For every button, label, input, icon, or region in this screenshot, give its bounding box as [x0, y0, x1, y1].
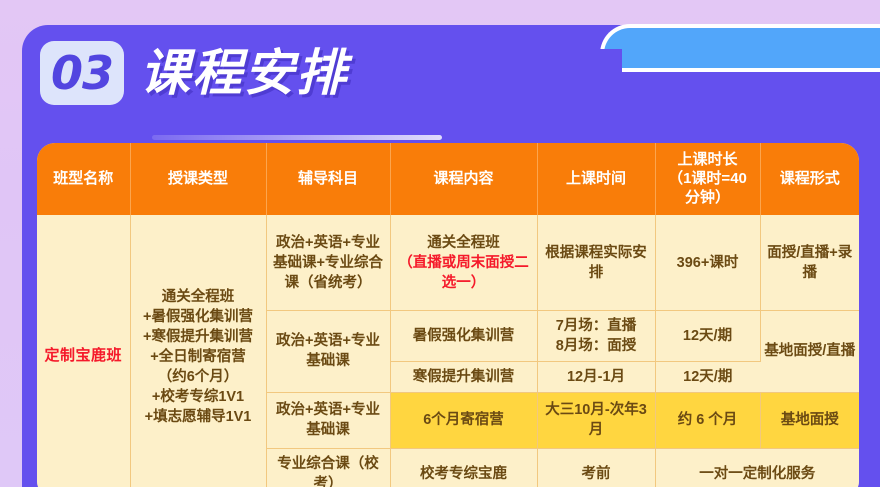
cell-duration: 12天/期 — [655, 361, 760, 392]
time-line-2: 8月场：面授 — [556, 338, 637, 354]
cell-format: 基地面授 — [760, 392, 859, 448]
teaching-line-6: +校考专综1V1 — [152, 389, 244, 405]
section-header: 03 课程安排 — [40, 36, 348, 110]
table-header-row: 班型名称 授课类型 辅导科目 课程内容 上课时间 上课时长 （1课时=40 分钟… — [37, 143, 859, 215]
content-note: （直播或周末面授二选一） — [394, 253, 534, 293]
duration-line-1: 上课时长 — [677, 151, 737, 168]
cell-time: 7月场：直播 8月场：面授 — [537, 310, 655, 361]
cell-subject: 专业综合课（校考） — [266, 448, 390, 487]
teaching-line-1: 通关全程班 — [162, 289, 235, 305]
cell-time: 12月-1月 — [537, 361, 655, 392]
teaching-line-5: （约6个月） — [158, 369, 239, 385]
cell-subject: 政治+英语+专业基础课+专业综合课（省统考） — [266, 215, 390, 310]
col-header-class-name: 班型名称 — [37, 143, 130, 215]
cell-teaching-type: 通关全程班 +暑假强化集训营 +寒假提升集训营 +全日制寄宿营 （约6个月） +… — [130, 215, 266, 487]
col-header-format: 课程形式 — [760, 143, 859, 215]
time-line-1: 7月场：直播 — [556, 318, 637, 334]
teaching-line-2: +暑假强化集训营 — [143, 309, 253, 325]
col-header-duration: 上课时长 （1课时=40 分钟） — [655, 143, 760, 215]
col-header-time: 上课时间 — [537, 143, 655, 215]
cell-duration: 396+课时 — [655, 215, 760, 310]
cell-duration-format-merged: 一对一定制化服务 — [655, 448, 859, 487]
section-number-badge: 03 — [40, 41, 124, 105]
duration-line-3: 分钟） — [685, 189, 730, 206]
cell-subject: 政治+英语+专业基础课 — [266, 310, 390, 392]
schedule-table: 班型名称 授课类型 辅导科目 课程内容 上课时间 上课时长 （1课时=40 分钟… — [37, 143, 859, 487]
page-title: 课程安排 — [140, 48, 348, 98]
cell-time: 大三10月-次年3月 — [537, 392, 655, 448]
content-main: 通关全程班 — [394, 233, 534, 253]
teaching-line-4: +全日制寄宿营 — [150, 349, 245, 365]
cell-duration: 12天/期 — [655, 310, 760, 361]
cell-format: 面授/直播+录播 — [760, 215, 859, 310]
teaching-line-3: +寒假提升集训营 — [143, 329, 253, 345]
cell-subject: 政治+英语+专业基础课 — [266, 392, 390, 448]
cell-content: 6个月寄宿营 — [390, 392, 537, 448]
cell-time: 根据课程实际安排 — [537, 215, 655, 310]
section-card: 03 课程安排 班型名称 授课类型 辅导科目 课程内容 上课时间 上课时长 （1… — [22, 25, 880, 487]
cell-format: 基地面授/直播 — [760, 310, 859, 392]
title-underline — [152, 135, 442, 140]
cell-time: 考前 — [537, 448, 655, 487]
course-schedule-table: 班型名称 授课类型 辅导科目 课程内容 上课时间 上课时长 （1课时=40 分钟… — [37, 143, 859, 487]
teaching-line-7: +填志愿辅导1V1 — [145, 409, 252, 425]
decorative-tab-notch — [582, 49, 622, 95]
table-row: 定制宝鹿班 通关全程班 +暑假强化集训营 +寒假提升集训营 +全日制寄宿营 （约… — [37, 215, 859, 310]
cell-content: 暑假强化集训营 — [390, 310, 537, 361]
col-header-subject: 辅导科目 — [266, 143, 390, 215]
col-header-content: 课程内容 — [390, 143, 537, 215]
duration-line-2: （1课时=40 — [668, 170, 747, 187]
decorative-blue-tab — [600, 24, 880, 72]
cell-duration: 约 6 个月 — [655, 392, 760, 448]
cell-class-name: 定制宝鹿班 — [37, 215, 130, 487]
col-header-teaching-type: 授课类型 — [130, 143, 266, 215]
cell-content: 校考专综宝鹿 — [390, 448, 537, 487]
cell-content: 寒假提升集训营 — [390, 361, 537, 392]
cell-content: 通关全程班 （直播或周末面授二选一） — [390, 215, 537, 310]
